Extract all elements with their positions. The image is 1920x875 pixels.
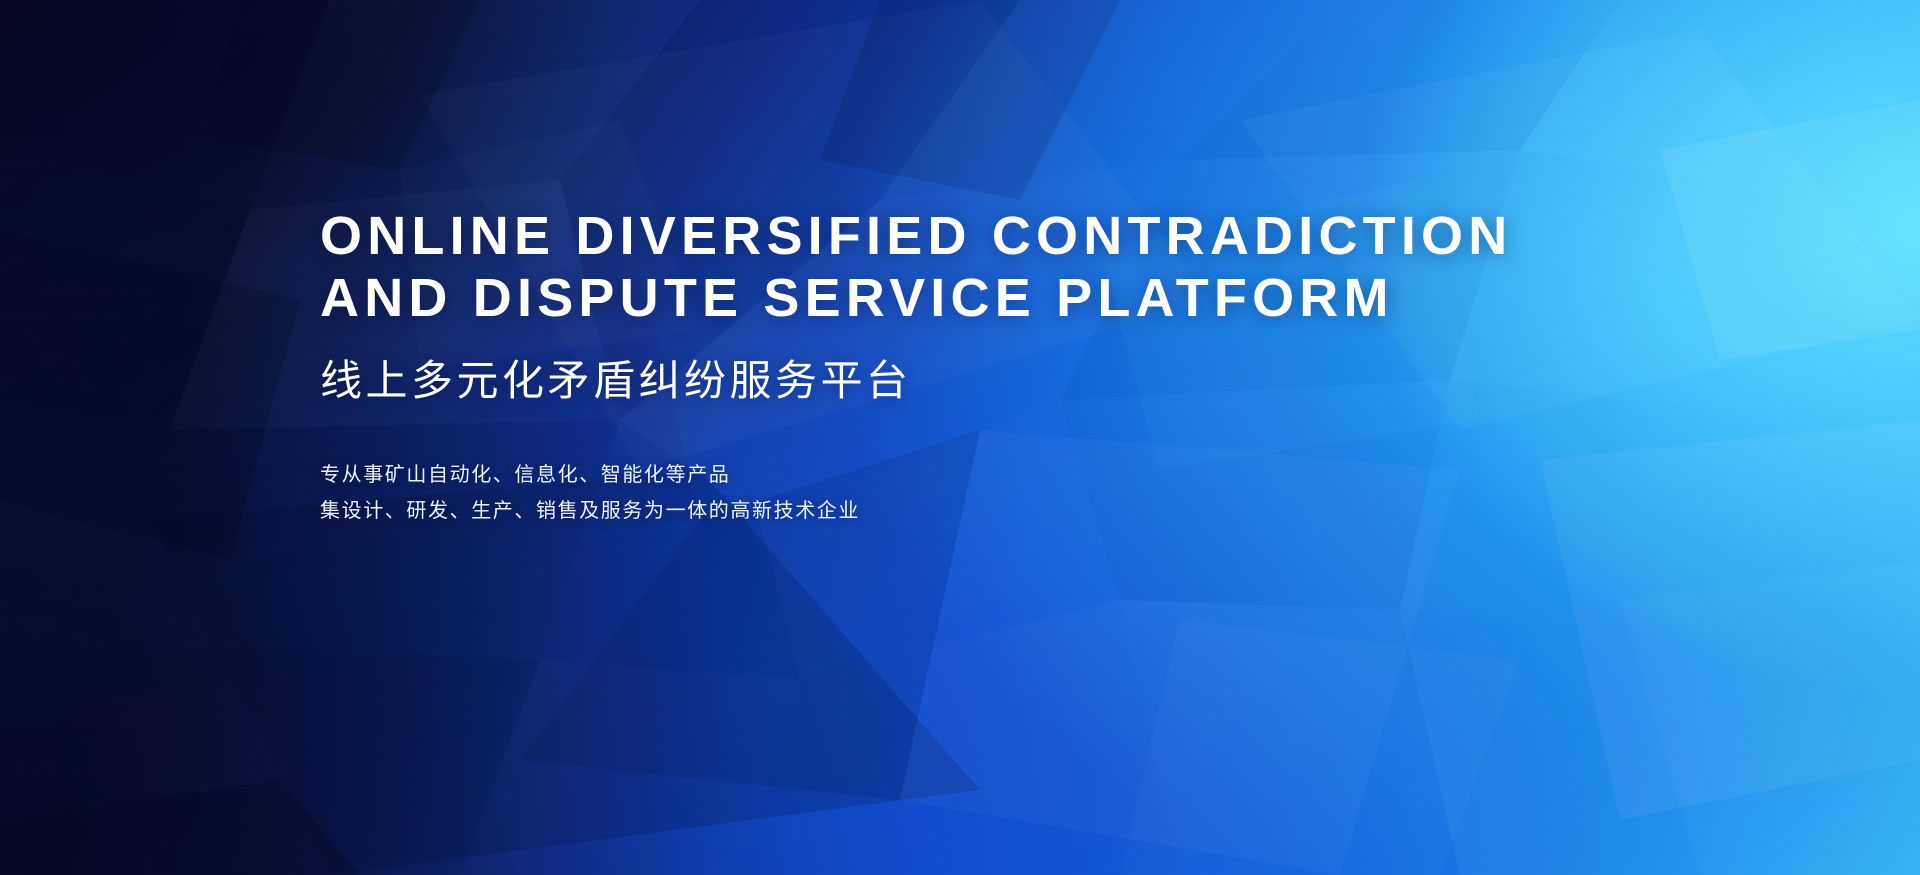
headline-line-1: ONLINE DIVERSIFIED CONTRADICTION xyxy=(320,205,1680,267)
headline-line-2: AND DISPUTE SERVICE PLATFORM xyxy=(320,267,1680,329)
hero-banner: ONLINE DIVERSIFIED CONTRADICTION AND DIS… xyxy=(0,0,1920,875)
page-title: ONLINE DIVERSIFIED CONTRADICTION AND DIS… xyxy=(320,205,1680,329)
page-description: 专从事矿山自动化、信息化、智能化等产品 集设计、研发、生产、销售及服务为一体的高… xyxy=(320,457,1680,529)
page-subtitle: 线上多元化矛盾纠纷服务平台 xyxy=(320,355,1680,407)
description-line-2: 集设计、研发、生产、销售及服务为一体的高新技术企业 xyxy=(320,493,1680,529)
hero-content: ONLINE DIVERSIFIED CONTRADICTION AND DIS… xyxy=(320,205,1680,529)
description-line-1: 专从事矿山自动化、信息化、智能化等产品 xyxy=(320,457,1680,493)
